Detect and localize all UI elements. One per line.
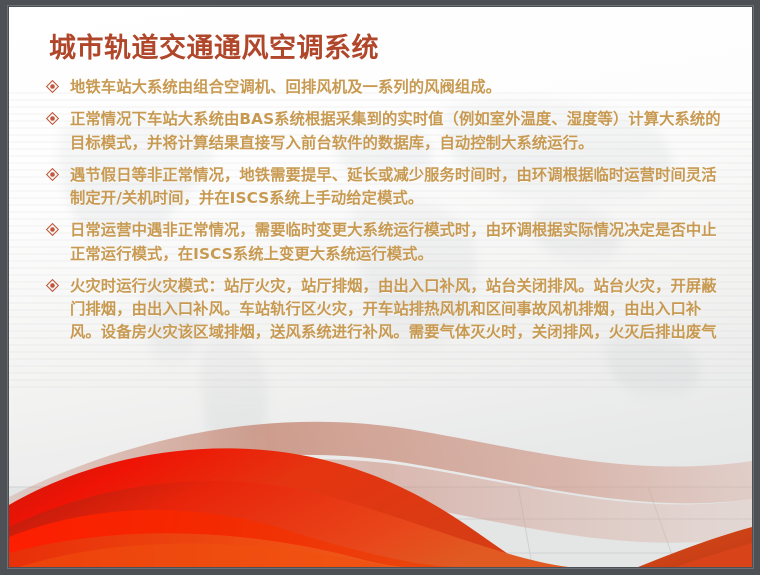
list-item-text: 正常情况下车站大系统由BAS系统根据采集到的实时值（例如室外温度、湿度等）计算大… [70,108,730,155]
diamond-bullet-icon [46,80,59,93]
list-item: 火灾时运行火灾模式：站厅火灾，站厅排烟，由出入口补风，站台关闭排风。站台火灾，开… [43,275,730,345]
slide-content: 城市轨道交通通风空调系统 地铁车站大系统由组合空调机、回排风机及一系列的风阀组成… [9,7,752,345]
list-item: 地铁车站大系统由组合空调机、回排风机及一系列的风阀组成。 [43,76,730,99]
list-item: 日常运营中遇非正常情况，需要临时变更大系统运行模式时，由环调根据实际情况决定是否… [43,219,730,266]
list-item-text: 地铁车站大系统由组合空调机、回排风机及一系列的风阀组成。 [70,76,730,99]
bullet-list: 地铁车站大系统由组合空调机、回排风机及一系列的风阀组成。 正常情况下车站大系统由… [43,76,730,345]
diamond-bullet-icon [46,279,59,292]
list-item-text: 遇节假日等非正常情况，地铁需要提早、延长或减少服务时间时，由环调根据临时运营时间… [70,164,730,211]
decorative-ribbons [9,387,752,567]
list-item: 遇节假日等非正常情况，地铁需要提早、延长或减少服务时间时，由环调根据临时运营时间… [43,164,730,211]
list-item: 正常情况下车站大系统由BAS系统根据采集到的实时值（例如室外温度、湿度等）计算大… [43,108,730,155]
diamond-bullet-icon [46,112,59,125]
diamond-bullet-icon [46,168,59,181]
slide-canvas: 城市轨道交通通风空调系统 地铁车站大系统由组合空调机、回排风机及一系列的风阀组成… [9,7,752,567]
slide-frame: 城市轨道交通通风空调系统 地铁车站大系统由组合空调机、回排风机及一系列的风阀组成… [0,0,760,575]
horizon-grid [9,457,752,567]
list-item-text: 日常运营中遇非正常情况，需要临时变更大系统运行模式时，由环调根据实际情况决定是否… [70,219,730,266]
list-item-text: 火灾时运行火灾模式：站厅火灾，站厅排烟，由出入口补风，站台关闭排风。站台火灾，开… [70,275,730,345]
page-title: 城市轨道交通通风空调系统 [49,33,730,64]
diamond-bullet-icon [46,223,59,236]
